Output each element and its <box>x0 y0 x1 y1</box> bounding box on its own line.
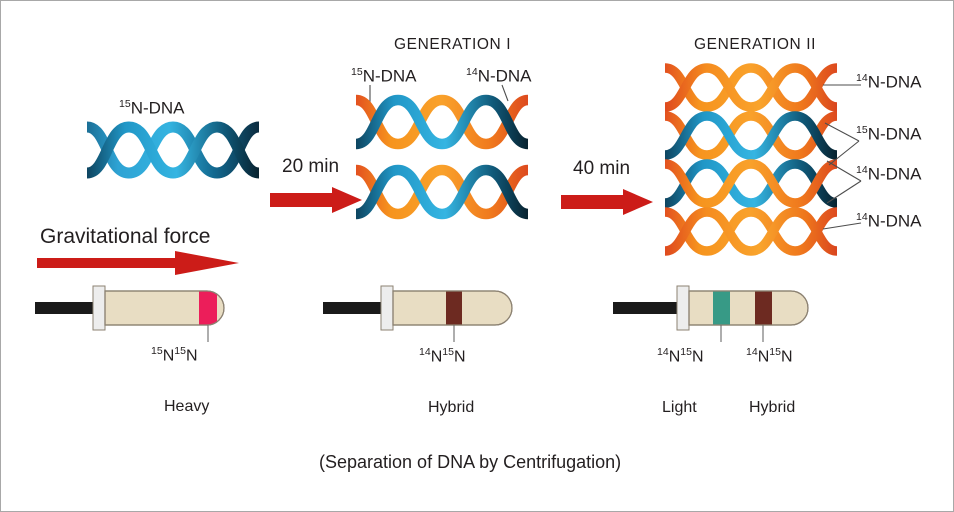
transition-label-40min: 40 min <box>573 159 630 178</box>
band-label-n-1: N <box>758 348 770 365</box>
tube-flange <box>381 286 393 330</box>
generation1-label-15n-text: N-DNA <box>363 67 417 86</box>
helix-gen2-row2 <box>665 116 837 155</box>
generation1-label-15n: 15N-DNA <box>351 67 417 85</box>
tube-hybrid2-caption: Hybrid <box>749 400 795 416</box>
gravitational-force-arrow <box>37 250 239 276</box>
helix-gen1-row1 <box>353 93 531 151</box>
generation2-label-row2-sup: 15 <box>856 124 868 136</box>
tube-light-band-label: 14N15N <box>657 347 704 365</box>
arrow-40min <box>561 189 653 215</box>
arrow-20min <box>270 187 362 213</box>
tube-heavy-caption: Heavy <box>164 399 209 415</box>
tube-light-caption: Light <box>662 400 697 416</box>
generation2-label-row2: 15N-DNA <box>856 125 922 143</box>
tube-hybrid-caption: Hybrid <box>428 400 474 416</box>
helix-gen2-row1 <box>665 68 837 107</box>
transition-label-20min: 20 min <box>282 157 339 176</box>
tube-stem <box>35 302 97 314</box>
generation2-label-row3-sup: 14 <box>856 164 868 176</box>
band-label-n-1: N <box>431 348 443 365</box>
gravitational-force-label: Gravitational force <box>40 226 210 247</box>
band-label-sup-1: 14 <box>657 346 669 358</box>
generation2-label-row3: 14N-DNA <box>856 165 922 183</box>
tube-band-heavy <box>199 291 217 325</box>
tube-stem <box>323 302 385 314</box>
tube-stem <box>613 302 681 314</box>
generation2-label-row4-sup: 14 <box>856 211 868 223</box>
arrow-shape <box>37 251 239 275</box>
generation2-label-row4: 14N-DNA <box>856 212 922 230</box>
figure-caption: (Separation of DNA by Centrifugation) <box>319 453 621 471</box>
helix-gen1-row2 <box>353 163 531 221</box>
tube-hybrid <box>323 284 523 334</box>
band-label-sup-1: 14 <box>419 346 431 358</box>
band-label-n-2: N <box>692 348 704 365</box>
band-label-sup-2: 15 <box>174 345 186 357</box>
tube-hybrid-band-label: 14N15N <box>419 347 466 365</box>
tube-band-light <box>713 291 730 325</box>
band-label-n-2: N <box>186 347 198 364</box>
tube-body <box>689 291 808 325</box>
band-label-n-2: N <box>781 348 793 365</box>
arrow-shape <box>270 187 362 213</box>
band-label-sup-2: 15 <box>442 346 454 358</box>
leader-line-14n-branch <box>827 181 861 203</box>
tube-heavy-band-label: 15N15N <box>151 346 198 364</box>
stage0-dna-label-text: N-DNA <box>131 99 185 118</box>
helix-stage0 <box>85 119 261 181</box>
helix-gen2-row4 <box>665 212 837 251</box>
tube-band-hybrid <box>755 291 772 325</box>
generation1-label-14n-text: N-DNA <box>478 67 532 86</box>
band-label-sup-1: 15 <box>151 345 163 357</box>
stage0-dna-label-sup: 15 <box>119 98 131 110</box>
generation2-label-row1-text: N-DNA <box>868 73 922 92</box>
tube-hybrid2-band-label: 14N15N <box>746 347 793 365</box>
generation2-label-row4-text: N-DNA <box>868 212 922 231</box>
leader-line-row2-to-15n <box>825 123 859 141</box>
band-label-n-1: N <box>163 347 175 364</box>
generation2-label-row1-sup: 14 <box>856 72 868 84</box>
generation1-label-14n-sup: 14 <box>466 66 478 78</box>
band-label-n-2: N <box>454 348 466 365</box>
band-label-sup-2: 15 <box>769 346 781 358</box>
band-label-sup-1: 14 <box>746 346 758 358</box>
generation1-label-15n-sup: 15 <box>351 66 363 78</box>
band-label-sup-2: 15 <box>680 346 692 358</box>
tube-flange <box>677 286 689 330</box>
arrow-shape <box>561 189 653 215</box>
helix-gen2-row3 <box>665 164 837 203</box>
tube-band-hybrid <box>446 291 462 325</box>
tube-flange <box>93 286 105 330</box>
figure-canvas: 15N-DNA 20 min GENERATION I 15N-DNA 14N-… <box>0 0 954 512</box>
generation2-label-row2-text: N-DNA <box>868 125 922 144</box>
generation2-label-row1: 14N-DNA <box>856 73 922 91</box>
stage0-dna-label: 15N-DNA <box>119 99 185 117</box>
generation2-label-row3-text: N-DNA <box>868 165 922 184</box>
leader-line-15n-branch <box>829 141 859 165</box>
tube-heavy <box>35 284 235 334</box>
generation1-label-14n: 14N-DNA <box>466 67 532 85</box>
generation2-title: GENERATION II <box>694 37 816 53</box>
tube-light-hybrid <box>613 284 823 334</box>
generation1-title: GENERATION I <box>394 37 511 53</box>
band-label-n-1: N <box>669 348 681 365</box>
